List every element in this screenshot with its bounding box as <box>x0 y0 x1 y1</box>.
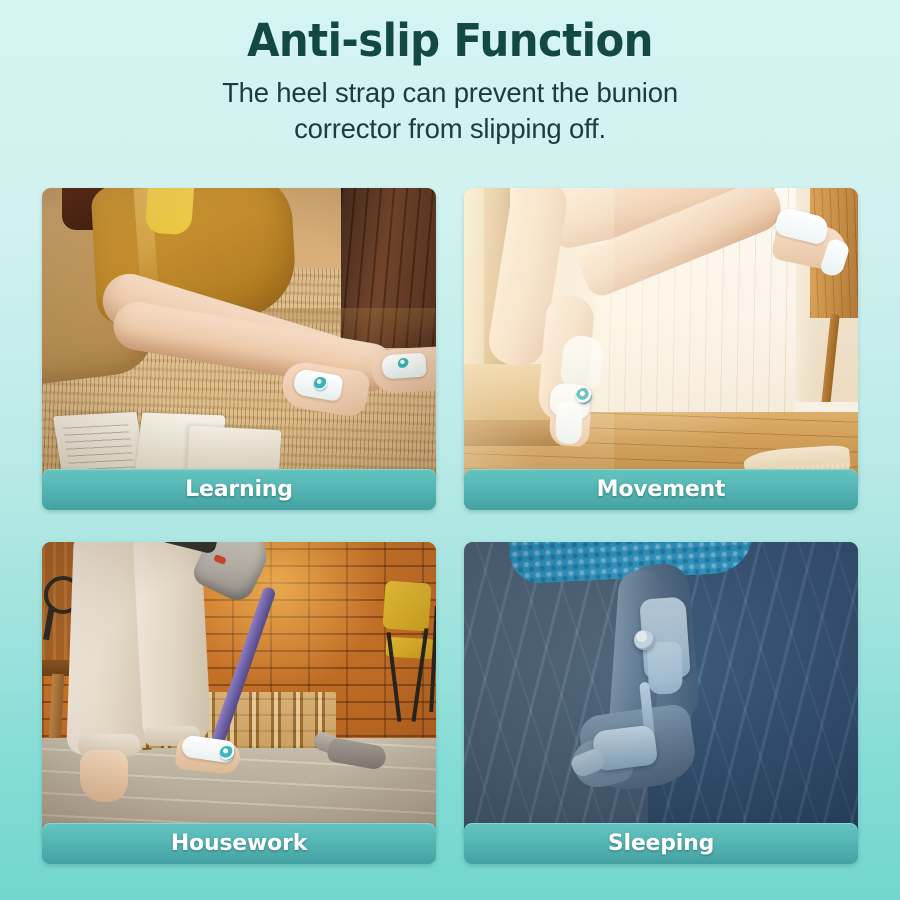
photo-sleeping <box>464 542 858 838</box>
scenario-card-housework[interactable]: Housework <box>42 542 436 864</box>
photo-housework <box>42 542 436 838</box>
caption-label-sleeping: Sleeping <box>608 831 714 856</box>
caption-bar-housework[interactable]: Housework <box>42 823 436 864</box>
caption-bar-learning[interactable]: Learning <box>42 469 436 510</box>
photo-learning-scene <box>42 188 436 484</box>
photo-sleeping-scene <box>464 542 858 838</box>
scenario-card-learning[interactable]: Learning <box>42 188 436 510</box>
scenario-card-grid: Learning <box>42 188 858 864</box>
photo-learning <box>42 188 436 484</box>
photo-movement-scene <box>464 188 858 484</box>
page-subtitle: The heel strap can prevent the bunion co… <box>0 67 900 148</box>
night-light-cast <box>464 542 858 838</box>
header: Anti-slip Function The heel strap can pr… <box>0 0 900 148</box>
photo-movement <box>464 188 858 484</box>
scenario-card-movement[interactable]: Movement <box>464 188 858 510</box>
caption-label-movement: Movement <box>597 477 726 502</box>
photo-vignette <box>42 188 436 484</box>
caption-bar-sleeping[interactable]: Sleeping <box>464 823 858 864</box>
photo-vignette <box>42 542 436 838</box>
subtitle-line-1: The heel strap can prevent the bunion <box>0 75 900 111</box>
infographic-page: Anti-slip Function The heel strap can pr… <box>0 0 900 900</box>
photo-housework-scene <box>42 542 436 838</box>
caption-label-housework: Housework <box>171 831 307 856</box>
photo-glow <box>464 188 858 484</box>
caption-label-learning: Learning <box>185 477 293 502</box>
subtitle-line-2: corrector from slipping off. <box>0 111 900 147</box>
scenario-card-sleeping[interactable]: Sleeping <box>464 542 858 864</box>
caption-bar-movement[interactable]: Movement <box>464 469 858 510</box>
page-title: Anti-slip Function <box>32 0 869 67</box>
